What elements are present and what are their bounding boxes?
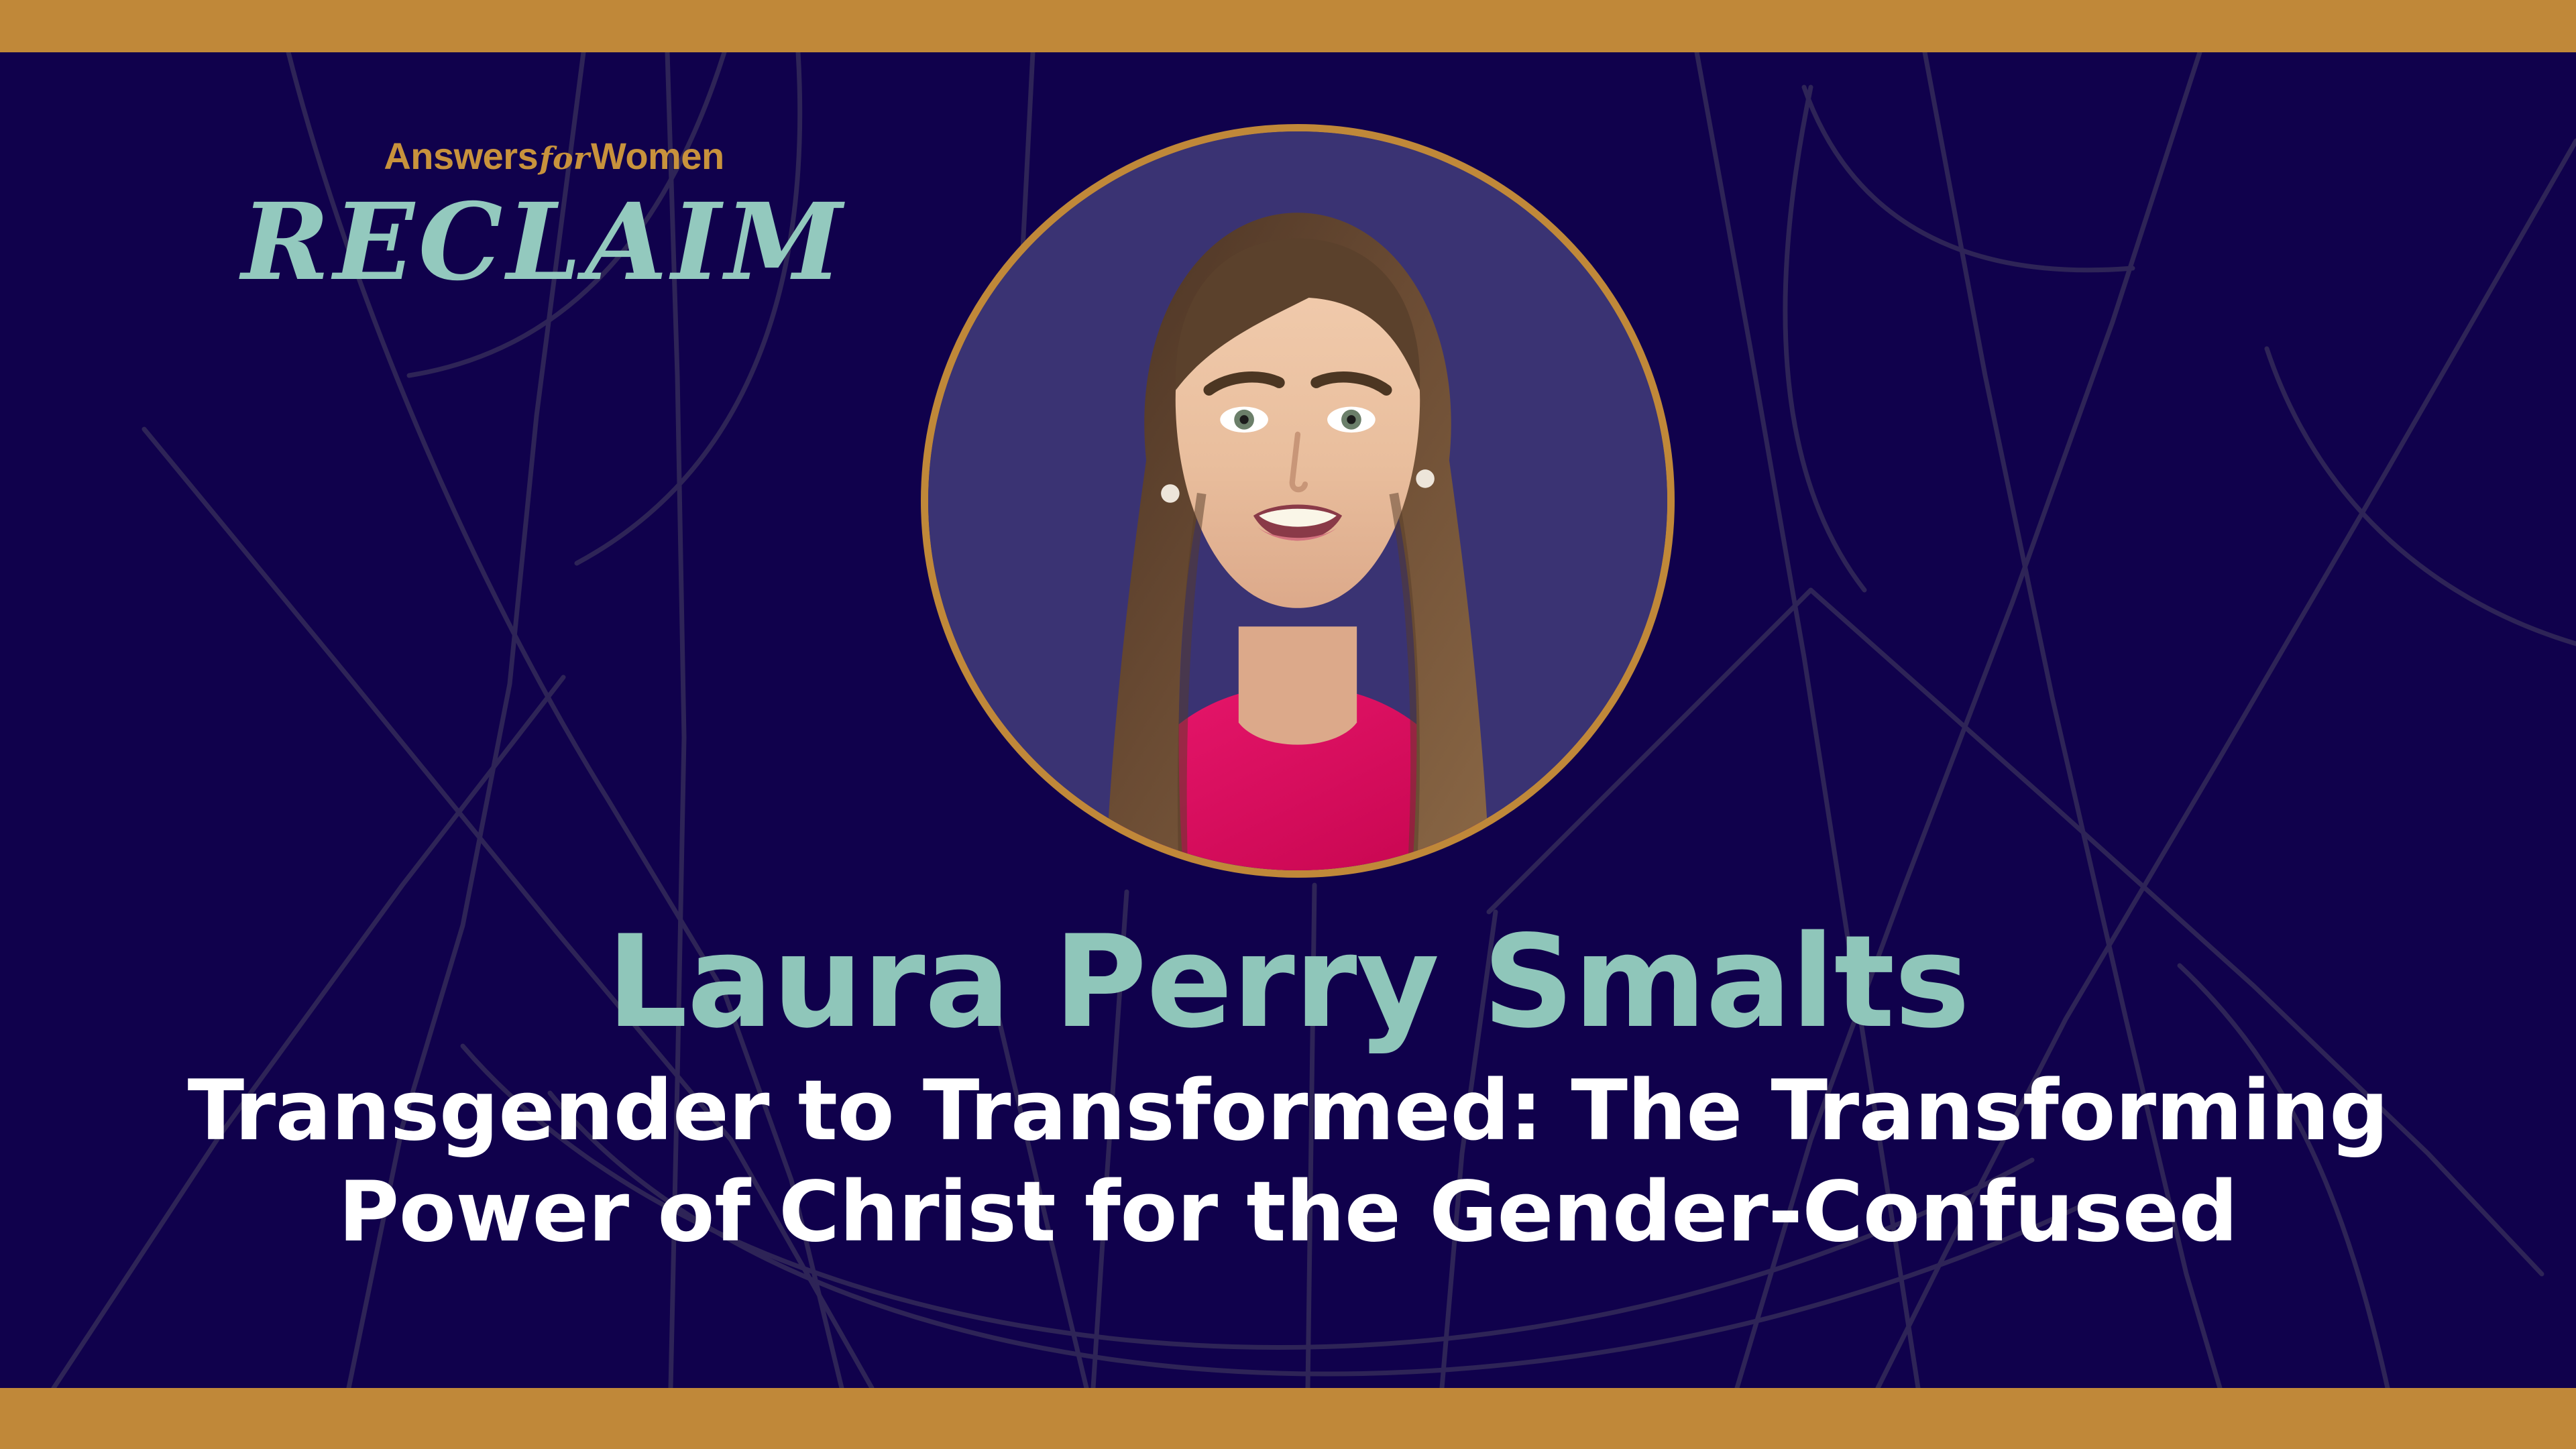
top-accent-bar	[0, 0, 2576, 52]
bottom-accent-bar	[0, 1388, 2576, 1449]
speaker-headshot	[928, 131, 1667, 870]
wordmark-women: Women	[591, 135, 724, 177]
speaker-portrait-frame	[921, 124, 1675, 878]
talk-title-line-1: Transgender to Transformed: The Transfor…	[174, 1061, 2402, 1162]
wordmark-for: for	[538, 140, 591, 176]
reclaim-wordmark: RECLAIM	[241, 190, 751, 296]
talk-title-line-2: Power of Christ for the Gender-Confused	[174, 1162, 2402, 1263]
brand-logo-lockup: AnswersforWomen RECLAIM	[241, 137, 751, 296]
answers-for-women-wordmark: AnswersforWomen	[357, 137, 751, 175]
speaker-text-block: Laura Perry Smalts Transgender to Transf…	[0, 919, 2576, 1264]
talk-title: Transgender to Transformed: The Transfor…	[0, 1061, 2576, 1264]
speaker-title-card: AnswersforWomen RECLAIM	[0, 0, 2576, 1449]
speaker-name: Laura Perry Smalts	[0, 919, 2576, 1046]
wordmark-answers: Answers	[384, 135, 538, 177]
